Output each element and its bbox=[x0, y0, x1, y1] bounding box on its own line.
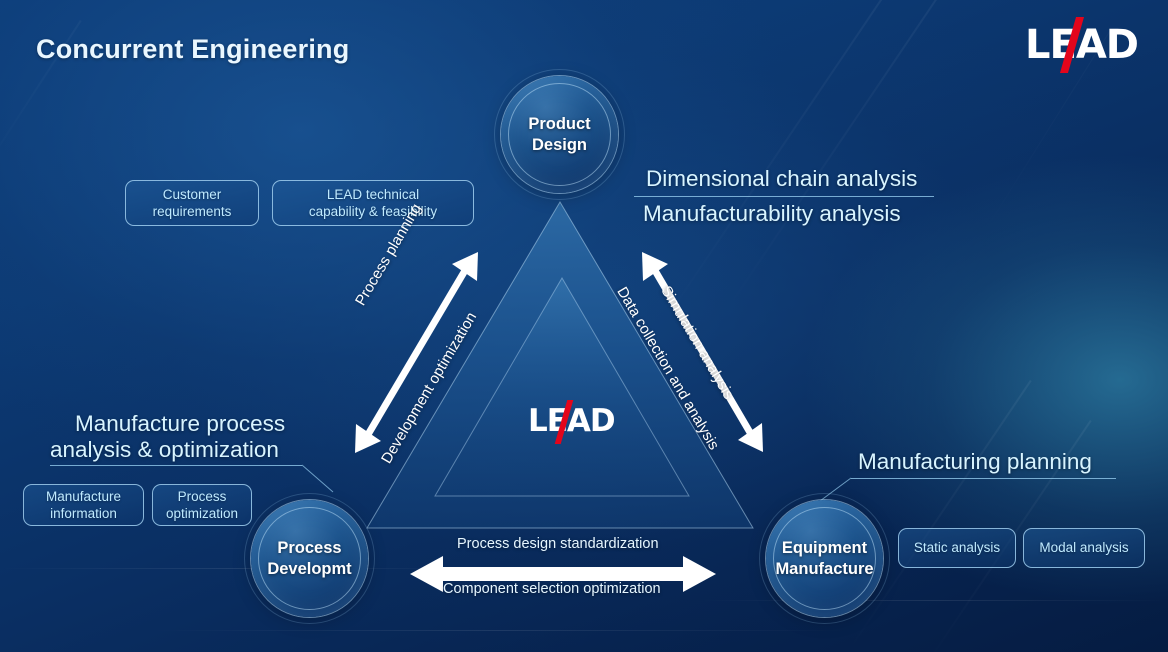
lead-logo-center: LEAD bbox=[528, 406, 615, 437]
node-product-design[interactable]: Product Design bbox=[501, 76, 618, 193]
lead-logo-text: LEAD bbox=[1025, 22, 1138, 68]
lead-logo: LEAD bbox=[1025, 25, 1138, 65]
background-streak bbox=[700, 600, 1168, 601]
tag-static-analysis[interactable]: Static analysis bbox=[898, 528, 1016, 568]
node-label-line2: Manufacture bbox=[775, 559, 873, 579]
tag-line2: requirements bbox=[153, 203, 232, 220]
node-label-line1: Product bbox=[528, 114, 590, 134]
leader-line-manufacture-process bbox=[302, 465, 333, 492]
background-streak bbox=[0, 568, 480, 569]
tag-line1: Process bbox=[166, 488, 238, 505]
node-equipment-manufacture[interactable]: Equipment Manufacture bbox=[766, 500, 883, 617]
arrow-label-component-selection-optimization: Component selection optimization bbox=[443, 581, 661, 597]
page-title: Concurrent Engineering bbox=[36, 34, 349, 65]
background-streak bbox=[724, 0, 949, 313]
node-process-development[interactable]: Process Developmt bbox=[251, 500, 368, 617]
node-label-line2: Design bbox=[528, 135, 590, 155]
tag-line1: Customer bbox=[153, 186, 232, 203]
arrow-label-development-optimization: Development optimization bbox=[378, 309, 480, 466]
annotation-manufacture-process-line1: Manufacture process bbox=[75, 411, 285, 437]
annotation-manufacturability-analysis: Manufacturability analysis bbox=[643, 201, 901, 227]
node-label-line1: Process bbox=[267, 538, 351, 558]
slide-canvas: Concurrent Engineering LEAD bbox=[0, 0, 1168, 652]
tag-line2: optimization bbox=[166, 505, 238, 522]
tag-manufacture-information[interactable]: Manufacture information bbox=[23, 484, 144, 526]
annotation-dimensional-chain-analysis: Dimensional chain analysis bbox=[646, 166, 917, 192]
annotation-divider bbox=[634, 196, 934, 197]
tag-line2: information bbox=[46, 505, 121, 522]
annotation-manufacturing-planning: Manufacturing planning bbox=[858, 449, 1092, 475]
node-label-line1: Equipment bbox=[775, 538, 873, 558]
background-streak bbox=[150, 630, 850, 631]
lead-logo-text: LEAD bbox=[528, 403, 615, 439]
arrow-label-process-design-standardization: Process design standardization bbox=[457, 536, 659, 552]
annotation-manufacture-process-line2: analysis & optimization bbox=[50, 437, 279, 463]
tag-modal-analysis[interactable]: Modal analysis bbox=[1023, 528, 1145, 568]
tag-customer-requirements[interactable]: Customer requirements bbox=[125, 180, 259, 226]
tag-process-optimization[interactable]: Process optimization bbox=[152, 484, 252, 526]
node-label-line2: Developmt bbox=[267, 559, 351, 579]
background-streak bbox=[660, 0, 902, 328]
tag-line1: Manufacture bbox=[46, 488, 121, 505]
inner-triangle bbox=[435, 278, 689, 496]
annotation-divider bbox=[50, 465, 302, 466]
tag-line1: LEAD technical bbox=[309, 186, 437, 203]
tag-lead-technical-capability[interactable]: LEAD technical capability & feasibility bbox=[272, 180, 474, 226]
annotation-divider bbox=[851, 478, 1116, 479]
outer-triangle bbox=[367, 202, 753, 528]
